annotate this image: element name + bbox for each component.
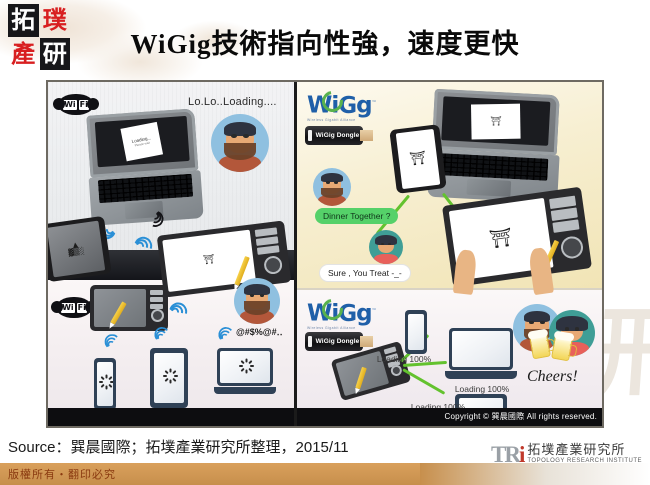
avatar5-eye-right xyxy=(540,321,545,324)
wigig-logo-bottom: WiGg™ Wireless Gigabit Alliance xyxy=(307,300,381,330)
dongle-cap-top xyxy=(308,130,312,141)
tri-logo-english: TOPOLOGY RESEARCH INSTITUTE xyxy=(527,457,642,465)
wigig-laptop-sketch: ⛩ xyxy=(490,115,502,126)
wifi-logo-badge-top: Wi Fi xyxy=(58,94,94,115)
wigig-tablet-screen: ⛩ xyxy=(396,129,441,189)
footer-bar-fade xyxy=(420,463,650,485)
device-laptop-loading xyxy=(214,348,276,396)
avatar3-hair xyxy=(321,173,342,182)
avatar4-body xyxy=(374,254,398,264)
tablet-wigig-mirror: ⛩ xyxy=(389,124,446,194)
avatar-wigig-female xyxy=(369,230,403,264)
spinner-laptop xyxy=(238,358,253,373)
laptop-complete-lid xyxy=(449,328,513,370)
laptop-screen: Loading... Please wait xyxy=(86,108,198,177)
dongle-usb-connector-bottom xyxy=(360,336,373,347)
laptop-loading-base xyxy=(214,387,276,394)
laptop-illustration-wifi: Loading... Please wait xyxy=(86,108,201,225)
figure-frame: Wi Fi Loading... Please wait Lo.Lo..Load… xyxy=(46,80,604,428)
panel-wifi-scenario: Wi Fi Loading... Please wait Lo.Lo..Load… xyxy=(48,82,297,426)
loading-label-laptop-100: Loading 100% xyxy=(445,384,519,394)
laptop-keyboard xyxy=(98,174,194,203)
avatar4-hair xyxy=(375,235,397,245)
wifi-badge2-text-fi: Fi xyxy=(77,303,87,313)
dongle-label-top: WiGig Dongle xyxy=(305,126,363,145)
graphics-tablet-source xyxy=(90,285,168,331)
laptop-complete-screen xyxy=(452,331,510,367)
device-phone-complete xyxy=(405,310,427,354)
left-panel-footer-bar xyxy=(48,408,294,426)
dongle-usb-connector-top xyxy=(360,130,373,141)
wigig-logo-wordmark: WiGg™ xyxy=(307,92,381,117)
avatar6-eye-left xyxy=(565,327,570,330)
wigig-dongle-top: WiGig Dongle xyxy=(305,126,373,145)
tri-logo-chinese: 拓墣產業研究所 xyxy=(527,443,642,457)
copyright-bar: Copyright © 巽晨國際 All rights reserved. xyxy=(297,408,602,426)
phone-complete-screen xyxy=(408,314,424,350)
wifi-badge-text-wi: Wi xyxy=(63,100,77,110)
tablet-photo-sketch: ▲▓▒░ xyxy=(67,241,85,257)
wigig-laptop-document: ⛩ xyxy=(471,103,521,139)
avatar6-eye-right xyxy=(575,327,580,330)
laptop-illustration-wigig: ⛩ xyxy=(429,89,559,203)
laptop-screen-content: Loading... Please wait xyxy=(94,116,190,167)
avatar3-eye-right xyxy=(334,181,338,184)
wigig-tablet-sketch: ⛩ xyxy=(409,152,427,167)
speech-loading-text: Lo.Lo..Loading.... xyxy=(188,96,277,108)
dongle-label-bottom: WiGig Dongle xyxy=(305,332,363,351)
avatar2-beard xyxy=(244,301,270,315)
wigig-logo2-g2: g xyxy=(356,301,371,327)
source-citation: Source：巽晨國際；拓墣產業研究所整理，2015/11 xyxy=(8,436,349,457)
beer-mug-left xyxy=(529,333,551,360)
source-tablet-dial xyxy=(151,309,164,322)
wifi-logo-badge-bottom: Wi Fi xyxy=(56,297,92,318)
wigig-logo-g2: g xyxy=(356,93,371,119)
hub-tablet-dial xyxy=(390,364,404,378)
avatar2-hair xyxy=(244,284,270,295)
wigig-logo2-trademark: ™ xyxy=(372,308,376,314)
tablet-photo-screen: ▲▓▒░ xyxy=(48,221,105,278)
avatar-hair xyxy=(224,122,256,136)
loading-label-phone-100: Loading 100% xyxy=(375,354,433,365)
graphics-tablet-dial xyxy=(263,255,283,275)
avatar-wigig-male xyxy=(313,168,351,206)
wigig-logo2-wordmark: WiGg™ xyxy=(307,300,381,325)
laptop-loading-document: Loading... Please wait xyxy=(121,122,164,161)
tri-institute-logo: TRi 拓墣產業研究所 TOPOLOGY RESEARCH INSTITUTE xyxy=(491,443,642,465)
canvas-sketch-statue: ⛩ xyxy=(203,256,215,266)
wigig-laptop-keyboard xyxy=(438,153,548,181)
spinner-phone xyxy=(98,375,113,390)
frustration-symbols: @#$%@#‥ xyxy=(236,327,283,338)
avatar-angry-user xyxy=(234,278,280,324)
wigig-canvas-sketch: ⛩ xyxy=(489,229,514,250)
avatar3-eye-left xyxy=(326,181,330,184)
chat-bubble-dinner: Dinner Together ? xyxy=(315,208,398,224)
wigig-laptop-screen: ⛩ xyxy=(432,89,560,156)
source-tablet-buttons xyxy=(150,290,163,309)
wigig-laptop-trackpad xyxy=(466,179,511,197)
wifi-badge2-text-wi: Wi xyxy=(61,303,75,313)
device-tablet-loading xyxy=(150,348,188,408)
wigig-logo-top: WiGg™ Wireless Gigabit Alliance xyxy=(307,92,381,122)
graphics-tablet-buttons xyxy=(255,227,280,254)
wifi-badge-text-fi: Fi xyxy=(79,100,89,110)
panel-wigig-scenario: WiGg™ Wireless Gigabit Alliance WiGig Do… xyxy=(297,82,602,426)
avatar5-hair xyxy=(524,311,551,323)
avatar-frustrated-user xyxy=(211,114,269,172)
laptop-loading-lid xyxy=(217,348,273,386)
phone-screen xyxy=(97,362,113,406)
wigig-laptop-screen-content: ⛩ xyxy=(441,97,551,146)
tri-logo-mark: TRi xyxy=(491,445,523,465)
wigig-dongle-bottom: WiGig Dongle xyxy=(305,332,373,351)
footer-orange-bar: 版權所有‧翻印必究 xyxy=(0,463,650,485)
chat-bubble-sure: Sure , You Treat -_- xyxy=(319,264,411,282)
tablet-photo-left: ▲▓▒░ xyxy=(48,216,112,282)
copyright-notice-zh: 版權所有‧翻印必究 xyxy=(8,466,116,482)
wigig-tablet-buttons xyxy=(549,196,579,233)
tablet-screen xyxy=(154,353,184,403)
avatar3-beard xyxy=(321,188,342,198)
laptop-loading-screen xyxy=(220,351,270,383)
slide-title: WiGig技術指向性強，速度更快 xyxy=(0,22,650,61)
spinner-tablet xyxy=(162,369,177,384)
wigig-tablet-dial xyxy=(560,235,585,260)
laptop-complete-base xyxy=(445,371,517,379)
device-phone-loading xyxy=(94,358,116,410)
cheers-caption: Cheers! xyxy=(527,368,578,386)
dongle-cap-bottom xyxy=(308,336,312,347)
avatar6-hair xyxy=(556,316,587,331)
device-laptop-complete xyxy=(445,328,517,380)
wigig-logo-trademark: ™ xyxy=(372,100,376,106)
